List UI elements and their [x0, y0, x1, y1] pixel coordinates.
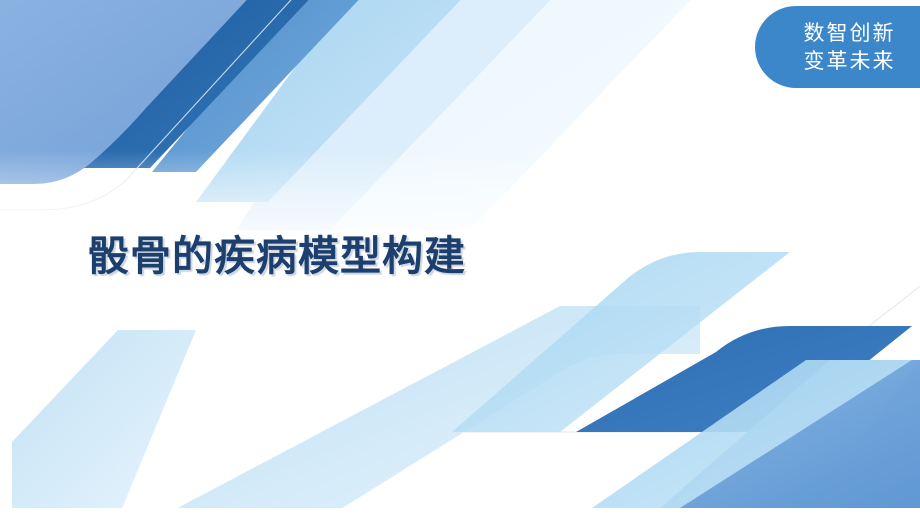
badge-line-2: 变革未来: [790, 48, 896, 74]
corner-badge: 数智创新 变革未来: [755, 6, 920, 88]
slide-title: 骰骨的疾病模型构建: [88, 231, 466, 281]
slide-canvas: 数智创新 变革未来 骰骨的疾病模型构建: [0, 0, 920, 518]
badge-line-1: 数智创新: [790, 20, 896, 46]
